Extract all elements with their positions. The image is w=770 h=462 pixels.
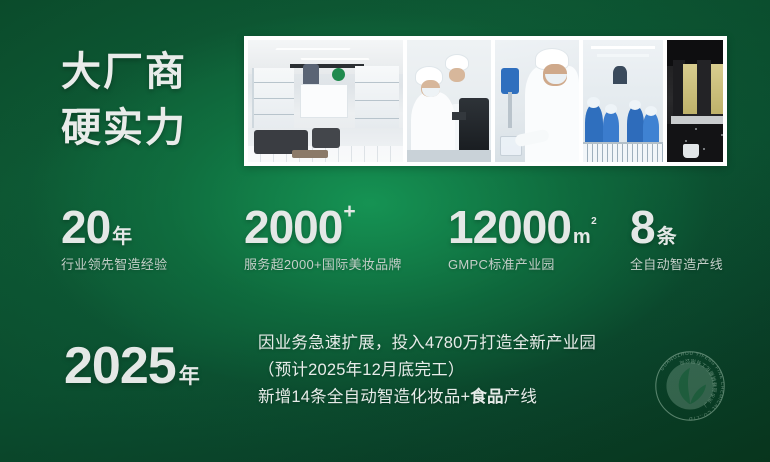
machine-plate [671,116,723,124]
background-worker [613,66,627,84]
photo-lab-worker-mixer [495,40,579,162]
floor-bucket [683,144,699,158]
stat-brands-number: 2000 [244,200,342,254]
description-line-3: 新增14条全自动智造化妆品+食品产线 [258,384,678,411]
machine-frame-right [697,60,711,124]
page-title: 大厂商 硬实力 [61,44,231,156]
stat-area: 12000 m2 GMPC标准产业园 [448,200,591,274]
stat-area-unit-text: m [573,226,591,248]
lab-bench [407,150,491,162]
photo-production-line-workers [583,40,663,162]
stat-brands-superscript: + [343,200,355,224]
poster-root: 大厂商 硬实力 [0,0,770,462]
stat-area-value: 12000 m2 [448,200,591,254]
mixer-rod [508,92,512,128]
page-title-line-2: 硬实力 [61,100,231,156]
stat-years-caption: 行业领先智造经验 [61,256,167,274]
coffee-table [292,150,328,158]
wall-logo-icon [332,68,345,81]
photo-packaging-machine-roll [667,40,723,162]
stat-years-value: 20 年 [61,200,167,254]
year-highlight: 2025 年 [64,336,200,396]
description-line-1: 因业务急速扩展，投入4780万打造全新产业园 [258,330,678,357]
description-line-3-part-a: 新增14条全自动智造化妆品+ [258,388,470,406]
stat-years-unit: 年 [112,220,132,249]
armchair [312,128,340,148]
photo-lab-microscope-workers [407,40,491,162]
line-worker-4 [643,112,659,146]
expansion-description: 因业务急速扩展，投入4780万打造全新产业园 （预计2025年12月底完工） 新… [258,330,678,411]
stat-years: 20 年 行业领先智造经验 [61,200,167,274]
page-title-line-1: 大厂商 [61,44,231,100]
line-worker-3 [627,106,644,146]
right-shelf [355,66,399,134]
stat-lines-number: 8 [630,200,655,254]
line-worker-2 [603,110,619,146]
ceiling-bar [290,64,364,68]
photo-showroom-display-room [248,40,403,162]
worker-cap-1 [587,97,600,108]
face-back [449,68,465,82]
center-cabinet [300,84,348,118]
stat-area-caption: GMPC标准产业园 [448,256,591,274]
description-line-2: （预计2025年12月底完工） [258,357,678,384]
photo-strip [244,36,727,166]
worker-cap-3 [629,100,641,110]
stat-brands-caption: 服务超2000+国际美妆品牌 [244,256,402,274]
left-shelf [252,68,294,134]
ceiling-lamp-1 [591,46,655,49]
stat-brands: 2000 + 服务超2000+国际美妆品牌 [244,200,402,274]
year-unit: 年 [179,360,200,390]
stats-row: 20 年 行业领先智造经验 2000 + 服务超2000+国际美妆品牌 1200… [0,200,770,288]
stat-area-unit-exponent: 2 [591,217,597,227]
stat-lines: 8 条 全自动智造产线 [630,200,723,274]
stat-lines-unit: 条 [657,220,677,249]
stat-lines-caption: 全自动智造产线 [630,256,723,274]
line-worker-1 [585,104,603,146]
microscope [459,98,489,154]
stat-area-unit: m2 [573,226,591,249]
ceiling-lamp-2 [597,54,649,57]
stat-lines-value: 8 条 [630,200,723,254]
stat-years-number: 20 [61,200,110,254]
description-line-3-part-c: 产线 [504,388,537,406]
year-number: 2025 [64,336,176,396]
stat-area-number: 12000 [448,200,571,254]
worker-cap-2 [605,104,617,114]
stat-brands-value: 2000 + [244,200,402,254]
bottle-row [583,144,663,162]
worker-cap-4 [645,106,657,116]
description-line-3-emphasis: 食品 [470,388,503,406]
blue-mixer-head [501,68,519,94]
